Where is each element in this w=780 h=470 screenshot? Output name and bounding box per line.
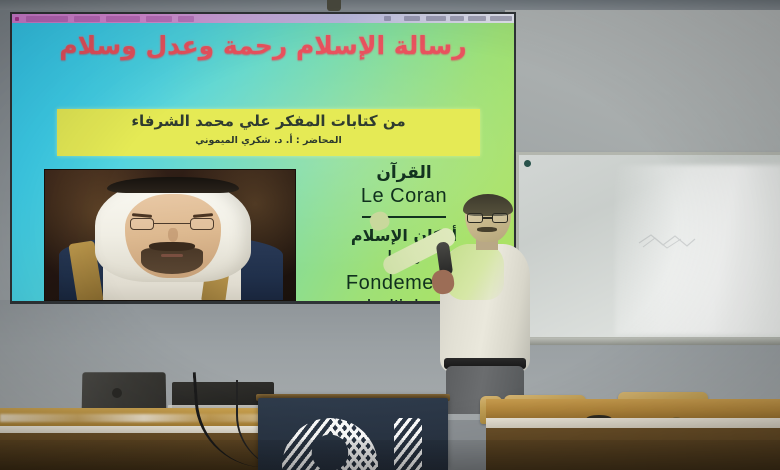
portrait-agal-cord: [107, 177, 239, 193]
floor-shadow: [0, 440, 780, 470]
laptop-logo-icon: [112, 388, 122, 398]
portrait-lens-left: [130, 218, 154, 230]
toolbar-right-icon-4[interactable]: [450, 16, 464, 21]
toolbar-right-icon-2[interactable]: [404, 16, 420, 21]
toolbar-right-icon-1[interactable]: [384, 16, 391, 21]
presenter-moustache: [477, 227, 497, 232]
toolbar-right-icon-3[interactable]: [426, 16, 446, 21]
slide-subtitle-box: من كتابات المفكر علي محمد الشرفاء المحاض…: [57, 109, 480, 156]
slide-quran-arabic: القرآن: [304, 163, 504, 184]
whiteboard-magnet: [524, 160, 531, 167]
ceiling-strip: [0, 0, 780, 10]
whiteboard-erased-marks: [637, 233, 697, 251]
portrait-moustache: [149, 242, 195, 251]
whiteboard: [516, 152, 780, 340]
toolbar-menu-item-5[interactable]: [178, 16, 194, 22]
toolbar-menu-item-4[interactable]: [146, 16, 172, 22]
toolbar-menu-item-2[interactable]: [74, 16, 100, 22]
slide-lecturer-line: المحاضر : أ. د. شكري الميموني: [57, 134, 480, 148]
presenter-lens-right: [492, 213, 508, 223]
portrait-glasses-bridge: [154, 223, 190, 224]
toolbar-right-icon-5[interactable]: [468, 16, 486, 21]
presenter-lens-left: [467, 213, 483, 223]
whiteboard-marker-tray: [514, 338, 780, 345]
slide-title: رسالة الإسلام رحمة وعدل وسلام: [28, 31, 498, 61]
slide-source-line: من كتابات المفكر علي محمد الشرفاء: [57, 111, 480, 131]
presentation-app-toolbar[interactable]: [12, 14, 514, 23]
presenter-glasses: [467, 213, 509, 223]
toolbar-menu-item-1[interactable]: [26, 16, 68, 22]
app-icon: [15, 17, 19, 21]
presenter-projected-light: [446, 244, 504, 300]
photo-scene: رسالة الإسلام رحمة وعدل وسلام من كتابات …: [0, 0, 780, 470]
portrait-lens-right: [190, 218, 214, 230]
portrait-mouth: [161, 254, 183, 257]
presenter-glasses-bridge: [483, 217, 492, 219]
toolbar-right-icon-6[interactable]: [490, 16, 512, 21]
toolbar-menu-item-3[interactable]: [106, 16, 140, 22]
projector-mount: [327, 0, 341, 11]
portrait-nose: [168, 228, 178, 242]
portrait-beard: [141, 248, 203, 274]
presenter: [424, 196, 544, 408]
slide-portrait-photo: [44, 169, 296, 301]
